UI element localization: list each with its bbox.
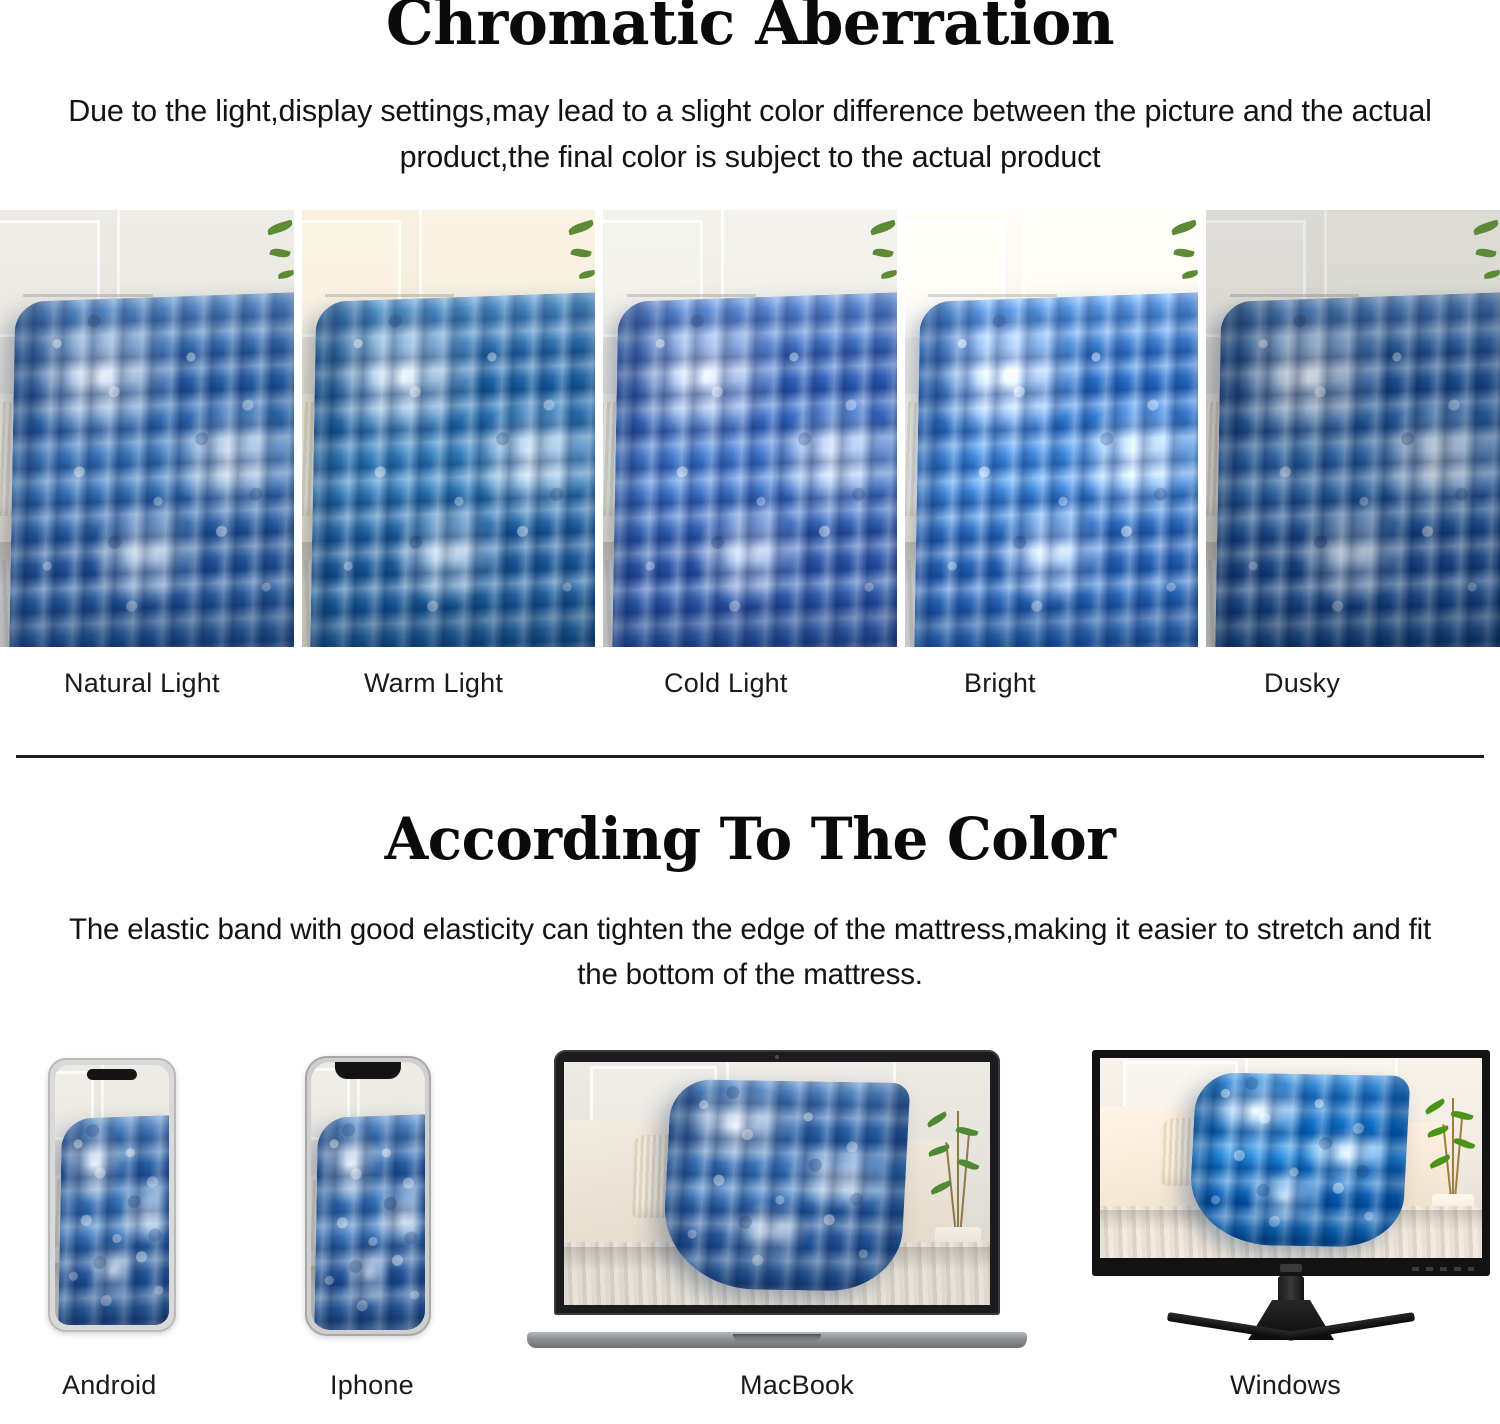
camera-notch-icon	[87, 1069, 137, 1080]
lighting-label-dusky: Dusky	[1200, 668, 1340, 698]
macbook-hinge-notch	[733, 1334, 821, 1341]
wall-rail	[23, 294, 152, 297]
monitor-control-buttons[interactable]	[1412, 1267, 1474, 1271]
wall-rail	[1230, 294, 1359, 297]
plant-leaf-icon	[957, 1157, 980, 1172]
faux-fur-blanket	[58, 1115, 169, 1325]
faux-fur-blanket	[661, 1079, 910, 1292]
blanket-scene	[311, 1062, 425, 1330]
section-divider	[16, 755, 1484, 758]
faux-fur-blanket	[1187, 1072, 1410, 1248]
device-comparison-gallery	[0, 1042, 1500, 1362]
chromatic-aberration-description: Due to the light,display settings,may le…	[0, 88, 1500, 181]
chromatic-aberration-section: Chromatic Aberration Due to the light,di…	[0, 0, 1500, 181]
device-label-android: Android	[62, 1370, 156, 1401]
device-label-windows: Windows	[1230, 1370, 1341, 1401]
page-title: Chromatic Aberration	[23, 0, 1478, 54]
monitor-bezel	[1092, 1050, 1490, 1276]
blanket-scene	[302, 210, 596, 647]
iphone-screen	[311, 1062, 425, 1330]
product-photo-cold-light[interactable]	[603, 210, 897, 647]
elastic-band-description: The elastic band with good elasticity ca…	[0, 908, 1500, 998]
lighting-comparison-gallery	[0, 210, 1500, 647]
product-photo-natural-light[interactable]	[0, 210, 294, 647]
blanket-scene	[905, 210, 1199, 647]
device-android-phone[interactable]	[48, 1058, 176, 1332]
lighting-label-bright: Bright	[900, 668, 1036, 698]
device-label-macbook: MacBook	[740, 1370, 854, 1401]
wall-rail	[928, 294, 1057, 297]
lighting-label-row: Natural Light Warm Light Cold Light Brig…	[0, 668, 1500, 699]
product-photo-dusky[interactable]	[1206, 210, 1500, 647]
device-windows-monitor[interactable]	[1092, 1050, 1490, 1350]
faux-fur-blanket	[913, 292, 1198, 647]
faux-fur-blanket	[314, 1113, 425, 1330]
macbook-lid	[554, 1050, 1000, 1315]
faux-fur-blanket	[310, 292, 595, 647]
device-label-iphone: Iphone	[330, 1370, 414, 1401]
wall-rail	[627, 294, 756, 297]
blanket-scene-landscape	[1100, 1058, 1482, 1258]
according-to-the-color-section: According To The Color The elastic band …	[0, 792, 1500, 998]
camera-notch-icon	[335, 1062, 401, 1079]
blanket-scene	[0, 210, 294, 647]
device-macbook-laptop[interactable]	[527, 1050, 1027, 1350]
product-photo-warm-light[interactable]	[302, 210, 596, 647]
lighting-label-warm-light: Warm Light	[300, 668, 503, 698]
device-label-row: Android Iphone MacBook Windows	[0, 1370, 1500, 1416]
faux-fur-blanket	[1215, 292, 1500, 647]
blanket-scene	[603, 210, 897, 647]
wall-rail	[325, 294, 454, 297]
lighting-label-natural-light: Natural Light	[0, 668, 220, 698]
monitor-brand-logo	[1280, 1264, 1302, 1272]
faux-fur-blanket	[612, 292, 897, 647]
blanket-scene	[1206, 210, 1500, 647]
section-two-title: According To The Color	[23, 810, 1478, 868]
monitor-screen	[1100, 1058, 1482, 1258]
macbook-screen	[564, 1062, 990, 1305]
android-screen	[55, 1065, 169, 1325]
lighting-label-cold-light: Cold Light	[600, 668, 788, 698]
webcam-icon	[775, 1055, 779, 1059]
blanket-scene-landscape	[564, 1062, 990, 1305]
product-photo-bright[interactable]	[905, 210, 1199, 647]
device-iphone[interactable]	[305, 1056, 431, 1336]
blanket-scene	[55, 1065, 169, 1325]
faux-fur-blanket	[9, 292, 294, 647]
monitor-stand-feet	[1166, 1332, 1416, 1354]
